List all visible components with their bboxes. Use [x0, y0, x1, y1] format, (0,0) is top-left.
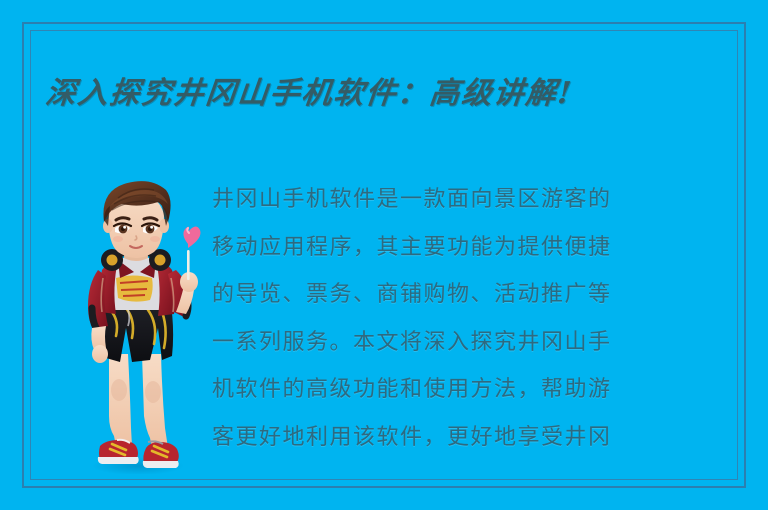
- character-illustration: [62, 178, 212, 474]
- body-line: 的导览、票务、商铺购物、活动推广等: [212, 271, 734, 319]
- body-text-block: 井冈山手机软件是一款面向景区游客的 移动应用程序，其主要功能为提供便捷 的导览、…: [212, 176, 734, 461]
- body-line: 移动应用程序，其主要功能为提供便捷: [212, 224, 734, 272]
- body-line: 机软件的高级功能和使用方法，帮助游: [212, 366, 734, 414]
- right-shoe: [143, 441, 179, 468]
- page-title: 深入探究井冈山手机软件：高级讲解!: [43, 60, 739, 120]
- body-line: 客更好地利用该软件，更好地享受井冈: [212, 414, 734, 462]
- lollipop-stick: [187, 250, 190, 280]
- body-line: 井冈山手机软件是一款面向景区游客的: [212, 176, 734, 224]
- left-shoe: [98, 440, 139, 464]
- lollipop-heart: [183, 226, 200, 248]
- poster-canvas: 深入探究井冈山手机软件：高级讲解! 井冈山手机软件是一款面向景区游客的 移动应用…: [0, 0, 768, 510]
- body-line: 一系列服务。本文将深入探究井冈山手: [212, 319, 734, 367]
- left-hand: [92, 345, 108, 363]
